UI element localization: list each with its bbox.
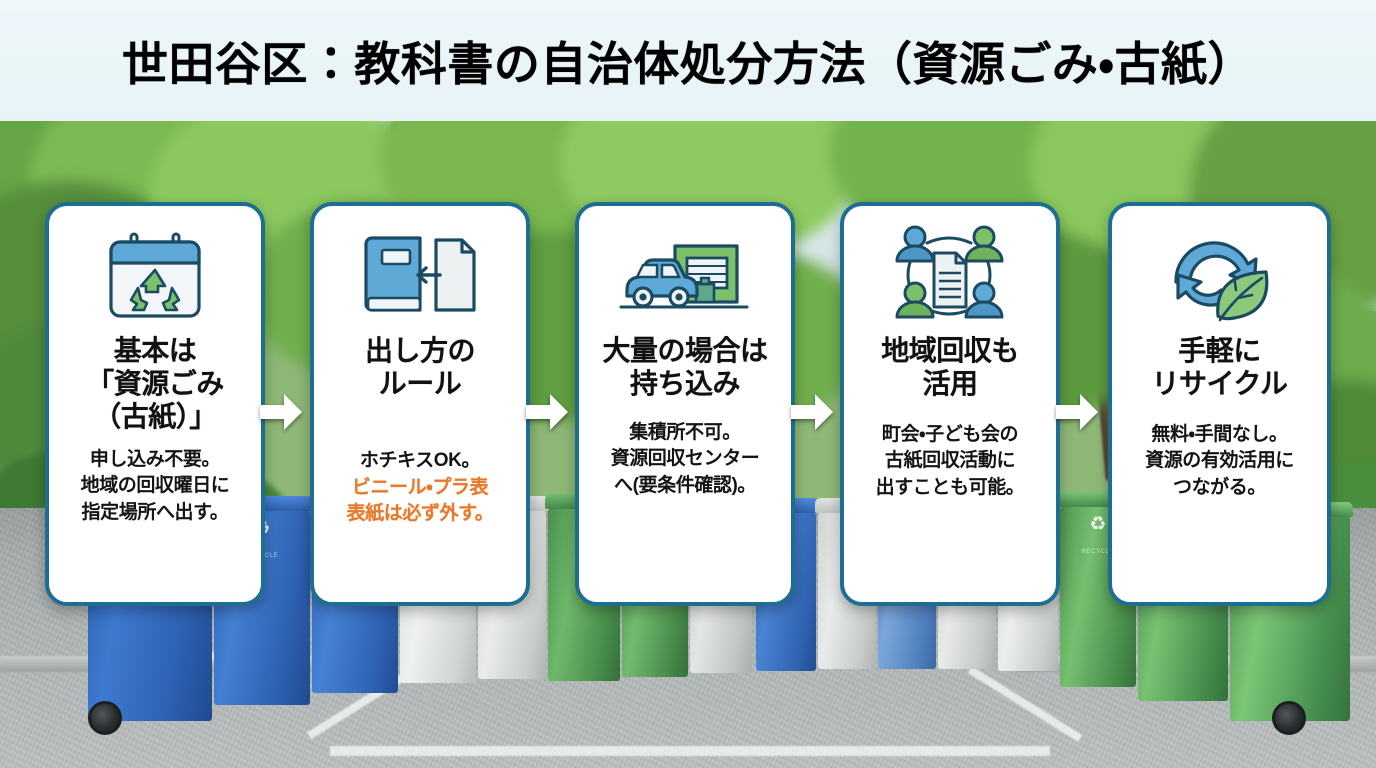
card-title: 地域回収も 活用 [881,334,1019,400]
card-body: 申し込み不要。 地域の回収曜日に 指定場所へ出す。 [81,447,230,526]
recycle-arrows-leaf-icon [1156,220,1284,332]
bin-wheel [88,701,122,735]
card-body: 無料・手間なし。 資源の有効活用に つながる。 [1145,422,1294,501]
book-paper-separate-icon [356,220,484,332]
card-body-text: ホチキスOK。 [360,450,480,471]
step-card-3[interactable]: 大量の場合は 持ち込み 集積所不可。 資源回収センター へ(要条件確認)。 [575,202,795,606]
infographic-canvas: 世田谷区：教科書の自治体処分方法（資源ごみ・古紙） [0,0,1376,768]
arrow-right-icon [789,392,835,432]
car-dropoff-facility-icon [617,220,753,332]
step-card-2[interactable]: 出し方の ルール ホチキスOK。 ビニール・プラ表 表紙は必ず外す。 [310,202,530,606]
card-title: 基本は 「資源ごみ （古紙）」 [86,334,224,433]
road-line [330,746,1050,756]
card-warning-text: ビニール・プラ表 表紙は必ず外す。 [347,475,494,527]
arrow-right-icon [1054,392,1100,432]
step-card-5[interactable]: 手軽に リサイクル 無料・手間なし。 資源の有効活用に つながる。 [1108,202,1331,606]
header-banner: 世田谷区：教科書の自治体処分方法（資源ごみ・古紙） [0,0,1376,121]
card-title: 出し方の ルール [365,334,475,400]
calendar-recycle-icon [103,220,207,332]
card-title: 手軽に リサイクル [1151,334,1287,400]
card-title: 大量の場合は 持ち込み [602,334,767,400]
bin-recycle-symbol: ♻ [1088,515,1108,535]
arrow-right-icon [258,392,304,432]
step-card-4[interactable]: 地域回収も 活用 町会・子ども会の 古紙回収活動に 出すことも可能。 [840,202,1060,606]
card-body: 町会・子ども会の 古紙回収活動に 出すことも可能。 [876,422,1025,501]
card-body: 集積所不可。 資源回収センター へ(要条件確認)。 [611,420,760,499]
page-title: 世田谷区：教科書の自治体処分方法（資源ごみ・古紙） [122,28,1254,94]
community-document-network-icon [889,220,1011,332]
bin-wheel [1272,701,1306,735]
arrow-right-icon [524,392,570,432]
card-body: ホチキスOK。 ビニール・プラ表 表紙は必ず外す。 [347,422,494,553]
step-card-1[interactable]: 基本は 「資源ごみ （古紙）」 申し込み不要。 地域の回収曜日に 指定場所へ出す… [45,202,265,606]
